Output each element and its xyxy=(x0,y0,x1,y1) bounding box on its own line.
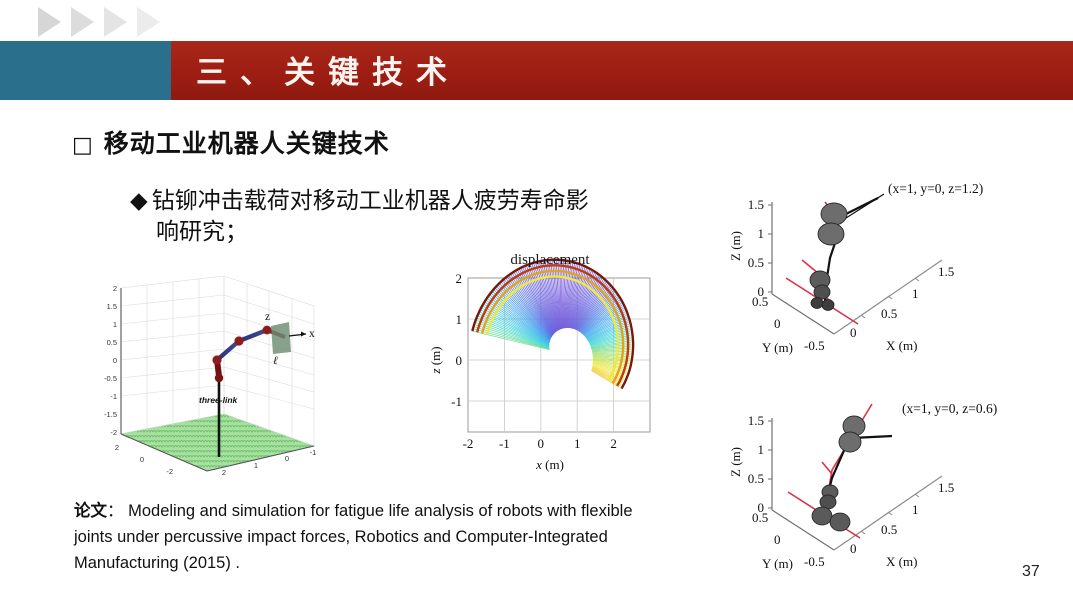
joint-sphere xyxy=(822,300,834,311)
joint-sphere xyxy=(814,285,830,299)
svg-text:-1.5: -1.5 xyxy=(104,410,117,419)
x-arrow-head xyxy=(301,332,306,337)
svg-text:0.5: 0.5 xyxy=(107,338,117,347)
z-tick-labels: 1.51 0.50 xyxy=(748,197,764,299)
diamond-bullet-icon: ◆ xyxy=(130,188,148,214)
y-tick-labels: 21 0-1 xyxy=(451,271,462,409)
footnote-colon: ： xyxy=(107,502,124,520)
section-heading-text: 移动工业机器人关键技术 xyxy=(104,129,390,158)
footnote-label: 论文 xyxy=(74,501,107,520)
svg-text:1: 1 xyxy=(254,461,258,470)
robot-joint-marker xyxy=(263,326,272,335)
robot-joint-marker xyxy=(215,374,223,382)
sub-bullet-line2: 响研究； xyxy=(156,217,700,248)
svg-text:-0.5: -0.5 xyxy=(804,338,825,353)
arm-pose-1-svg: 1.51 0.50 Z (m) 0.50-0.5 Y (m) 00.5 11.5… xyxy=(726,172,1066,368)
svg-text:-2: -2 xyxy=(110,428,117,437)
displacement-ray xyxy=(592,351,631,352)
svg-text:1.5: 1.5 xyxy=(938,480,954,495)
three-link-annotation: three-link xyxy=(199,395,239,405)
svg-text:-2: -2 xyxy=(166,467,173,476)
displacement-chart-title: displacement xyxy=(424,252,676,269)
title-band-teal-block xyxy=(0,41,171,100)
robot-joint-marker xyxy=(234,336,243,345)
x-axis-label: x (m) xyxy=(535,457,564,472)
svg-text:0: 0 xyxy=(538,436,545,451)
z-axis-label: Z (m) xyxy=(728,231,743,261)
svg-text:2: 2 xyxy=(115,443,119,452)
svg-text:0: 0 xyxy=(456,353,463,368)
svg-text:1: 1 xyxy=(758,442,765,457)
svg-text:1.5: 1.5 xyxy=(748,413,764,428)
svg-text:0.5: 0.5 xyxy=(752,294,768,309)
x-axis xyxy=(834,260,942,334)
z-axis-label: Z (m) xyxy=(728,447,743,477)
svg-text:0.5: 0.5 xyxy=(752,510,768,525)
decorative-arrow-strip xyxy=(38,7,160,37)
x-axis-label: X (m) xyxy=(886,338,917,353)
svg-text:0: 0 xyxy=(850,325,857,340)
three-link-3d-svg: 21.51 0.50-0.5 -1-1.5-2 20-2 210-1 x z ℓ xyxy=(99,268,321,476)
svg-text:1: 1 xyxy=(574,436,581,451)
end-effector-plate xyxy=(271,322,291,354)
play-triangle-icon xyxy=(137,7,160,37)
z-tick-labels: 1.51 0.50 xyxy=(748,413,764,515)
svg-text:-1: -1 xyxy=(310,448,317,457)
svg-text:-0.5: -0.5 xyxy=(104,374,117,383)
joint-sphere xyxy=(811,298,823,309)
svg-text:1: 1 xyxy=(912,286,919,301)
section-heading: □移动工业机器人关键技术 xyxy=(72,124,390,160)
svg-text:-2: -2 xyxy=(463,436,474,451)
svg-text:0: 0 xyxy=(774,316,781,331)
svg-text:0: 0 xyxy=(285,454,289,463)
svg-text:2: 2 xyxy=(456,271,463,286)
arm-pose-2-svg: 1.51 0.50 Z (m) 0.50-0.5 Y (m) 00.5 11.5… xyxy=(726,382,1066,578)
y-axis-label: z (m) xyxy=(428,346,443,374)
figure-arm-pose-2: 1.51 0.50 Z (m) 0.50-0.5 Y (m) 00.5 11.5… xyxy=(726,382,1066,578)
figure-displacement: displacement 21 0-1 -2-10 12 x (m) xyxy=(424,252,676,480)
svg-text:0.5: 0.5 xyxy=(881,306,897,321)
robot-joint-marker xyxy=(212,355,221,364)
displacement-svg: 21 0-1 -2-10 12 x (m) z (m) xyxy=(424,252,676,480)
svg-text:1: 1 xyxy=(912,502,919,517)
svg-text:0.5: 0.5 xyxy=(881,522,897,537)
y-axis-label: Y (m) xyxy=(762,340,793,355)
arm-pose-2-annotation: (x=1, y=0, z=0.6) xyxy=(902,401,997,417)
svg-text:-0.5: -0.5 xyxy=(804,554,825,569)
figure-arm-pose-1: 1.51 0.50 Z (m) 0.50-0.5 Y (m) 00.5 11.5… xyxy=(726,172,1066,368)
svg-text:0: 0 xyxy=(850,541,857,556)
svg-text:2: 2 xyxy=(113,284,117,293)
x-tick-labels: 00.5 11.5 xyxy=(850,480,954,556)
joint-sphere xyxy=(812,507,832,525)
svg-text:0.5: 0.5 xyxy=(748,255,764,270)
slide-title-band xyxy=(0,41,1073,100)
arm-joint-spheres xyxy=(810,203,847,311)
x-axis xyxy=(834,476,942,550)
svg-text:0: 0 xyxy=(113,356,117,365)
z-tick-labels: 21.51 0.50-0.5 -1-1.5-2 xyxy=(104,284,117,437)
square-bullet-icon: □ xyxy=(72,133,94,158)
svg-text:1.5: 1.5 xyxy=(748,197,764,212)
svg-text:-1: -1 xyxy=(499,436,510,451)
x-tick-labels: 00.5 11.5 xyxy=(850,264,954,340)
svg-text:1: 1 xyxy=(456,312,463,327)
joint-sphere xyxy=(830,513,850,531)
svg-text:2: 2 xyxy=(610,436,617,451)
svg-text:0: 0 xyxy=(774,532,781,547)
footnote-text: Modeling and simulation for fatigue life… xyxy=(74,502,633,572)
footnote: 论文： Modeling and simulation for fatigue … xyxy=(74,498,674,576)
svg-text:1.5: 1.5 xyxy=(107,302,117,311)
sub-bullet-line1: 钻铆冲击载荷对移动工业机器人疲劳寿命影 xyxy=(152,188,589,214)
annotation-leader-line xyxy=(846,194,884,218)
joint-sphere xyxy=(818,223,844,245)
figure-three-link-3d: 21.51 0.50-0.5 -1-1.5-2 20-2 210-1 x z ℓ xyxy=(99,268,321,476)
x-axis-marker-label: x xyxy=(309,328,315,340)
x-axis-label: X (m) xyxy=(886,554,917,569)
svg-text:1: 1 xyxy=(758,226,765,241)
y-axis-label: Y (m) xyxy=(762,556,793,571)
joint-sphere xyxy=(839,432,861,452)
z-axis-marker-label: z xyxy=(265,311,270,323)
svg-text:-1: -1 xyxy=(451,394,462,409)
svg-text:0: 0 xyxy=(140,455,144,464)
svg-text:1.5: 1.5 xyxy=(938,264,954,279)
l-label: ℓ xyxy=(273,355,278,367)
arm-pose-1-annotation: (x=1, y=0, z=1.2) xyxy=(888,181,983,197)
svg-text:-1: -1 xyxy=(110,392,117,401)
page-title: 三、关键技术 xyxy=(196,47,460,92)
x-tick-labels: -2-10 12 xyxy=(463,436,617,451)
svg-text:0.5: 0.5 xyxy=(748,471,764,486)
play-triangle-icon xyxy=(104,7,127,37)
svg-text:1: 1 xyxy=(113,320,117,329)
arm-joint-spheres xyxy=(812,416,865,531)
page-number: 37 xyxy=(1022,563,1040,581)
play-triangle-icon xyxy=(71,7,94,37)
play-triangle-icon xyxy=(38,7,61,37)
svg-text:2: 2 xyxy=(222,468,226,476)
sub-bullet: ◆钻铆冲击载荷对移动工业机器人疲劳寿命影 响研究； xyxy=(130,186,700,248)
